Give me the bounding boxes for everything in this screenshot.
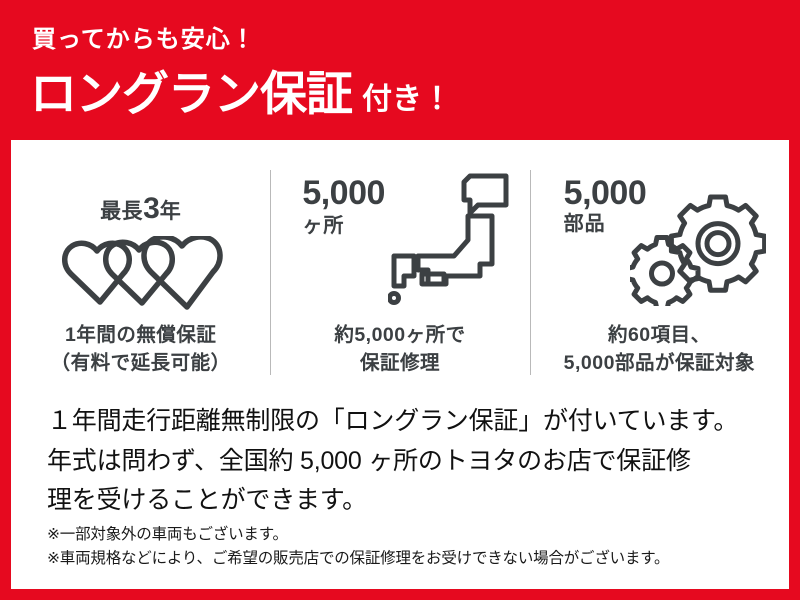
body-paragraph: １年間走行距離無制限の「ロングラン保証」が付いています。 年式は問わず、全国約 … <box>47 402 763 521</box>
body-line-2: 年式は問わず、全国約 5,000 ヶ所のトヨタのお店で保証修 <box>47 442 763 482</box>
footnote-1: ※一部対象外の車両もございます。 <box>47 523 773 547</box>
feature-column-covered-parts: 5,000 部品 <box>530 154 789 404</box>
caption-line-2: 5,000部品が保証対象 <box>564 350 755 378</box>
caption-line-1: 約5,000ヶ所で <box>334 322 465 350</box>
banner-title-sub: 付き！ <box>352 85 452 117</box>
gears-icon <box>630 190 766 306</box>
body-line-3: 理を受けることができます。 <box>47 481 763 521</box>
feature-icon-area-service-locations: 5,000 ヶ所 <box>270 154 529 322</box>
caption-line-1: 約60項目、 <box>564 322 755 350</box>
feature-caption-covered-parts: 約60項目、 5,000部品が保証対象 <box>564 322 755 377</box>
warranty-term-unit: 年 <box>160 200 182 223</box>
warranty-term-prefix: 最長 <box>100 200 143 223</box>
footnotes: ※一部対象外の車両もございます。 ※車両規格などにより、ご希望の販売店での保証修… <box>47 523 773 572</box>
caption-line-1: 1年間の無償保証 <box>51 322 231 350</box>
body-line-1: １年間走行距離無制限の「ロングラン保証」が付いています。 <box>47 402 763 442</box>
content-card: 最長3年 1年間の無償保証 （有料で延長可能） <box>11 140 789 589</box>
feature-icon-area-covered-parts: 5,000 部品 <box>530 154 789 322</box>
footnote-2: ※車両規格などにより、ご希望の販売店での保証修理をお受けできない場合がございます… <box>47 547 773 571</box>
banner-title: ロングラン保証 付き！ <box>30 70 452 117</box>
feature-column-service-locations: 5,000 ヶ所 <box>270 154 529 404</box>
service-locations-unit: ヶ所 <box>302 216 385 236</box>
feature-caption-warranty-term: 1年間の無償保証 （有料で延長可能） <box>51 322 231 377</box>
caption-line-2: 保証修理 <box>334 350 465 378</box>
header-banner: 買ってからも安心！ ロングラン保証 付き！ <box>0 0 800 138</box>
service-locations-number: 5,000 <box>302 176 385 210</box>
warranty-promo-page: 買ってからも安心！ ロングラン保証 付き！ 最長3年 <box>0 0 800 600</box>
feature-columns: 最長3年 1年間の無償保証 （有料で延長可能） <box>11 154 789 404</box>
caption-line-2: （有料で延長可能） <box>51 350 231 378</box>
warranty-term-label: 最長3年 <box>11 194 270 224</box>
japan-map-icon <box>388 170 516 310</box>
three-hearts-icon <box>59 236 223 310</box>
feature-column-warranty-term: 最長3年 1年間の無償保証 （有料で延長可能） <box>11 154 270 404</box>
feature-caption-service-locations: 約5,000ヶ所で 保証修理 <box>334 322 465 377</box>
service-locations-label: 5,000 ヶ所 <box>302 176 385 236</box>
feature-icon-area-warranty-term: 最長3年 <box>11 154 270 322</box>
banner-title-main: ロングラン保証 <box>30 70 352 117</box>
banner-kicker: 買ってからも安心！ <box>32 28 256 52</box>
warranty-term-number: 3 <box>143 192 160 225</box>
